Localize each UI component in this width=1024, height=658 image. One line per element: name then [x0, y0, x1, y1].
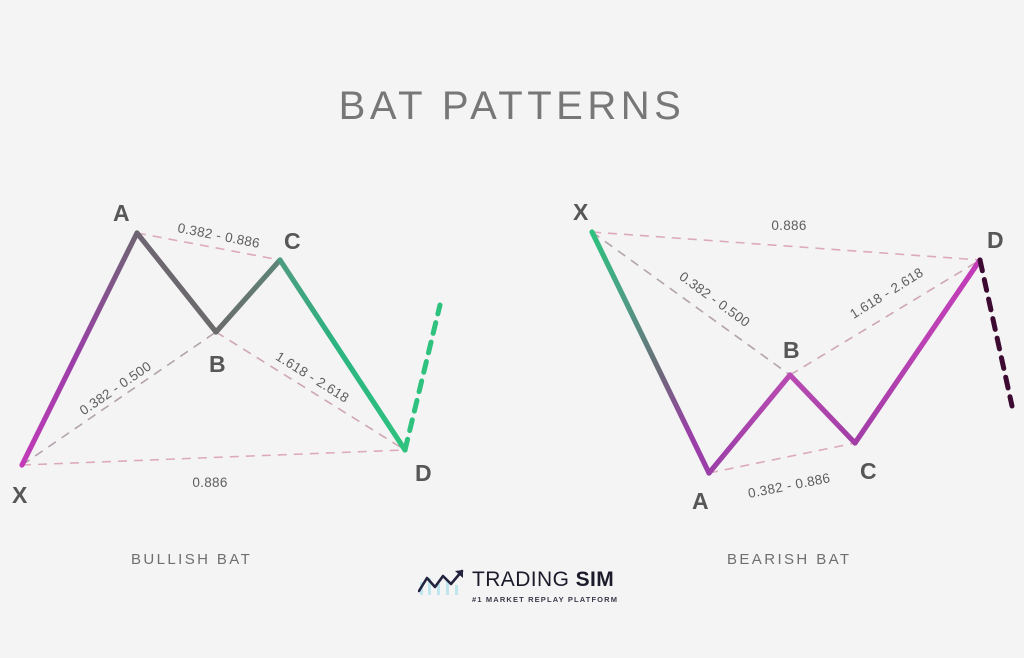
segment-c-d — [855, 260, 980, 443]
guide-line-xb — [592, 232, 790, 375]
guide-line-xb — [22, 332, 216, 465]
guide-line-bd — [216, 332, 405, 450]
ratio-label-bd: 1.618 - 2.618 — [273, 349, 352, 406]
brand-logo: TRADING SIM #1 MARKET REPLAY PLATFORM — [418, 567, 618, 612]
ratio-label-xd: 0.886 — [192, 475, 227, 490]
bearish-ratio-labels: 0.886 0.382 - 0.500 1.618 - 2.618 0.382 … — [676, 218, 926, 501]
point-label-x: X — [573, 199, 589, 225]
point-label-c: C — [284, 228, 301, 254]
point-label-c: C — [860, 458, 877, 484]
projection-line-bearish — [980, 260, 1012, 406]
logo-word-sim: SIM — [576, 568, 615, 591]
point-label-x: X — [12, 482, 28, 508]
point-label-a: A — [692, 488, 709, 514]
segment-b-c — [216, 260, 280, 332]
guide-line-bd — [790, 260, 980, 375]
point-label-b: B — [783, 337, 800, 363]
logo-word-trading: TRADING — [472, 568, 569, 591]
zigzag-arrow-chart-icon — [418, 569, 466, 595]
chart-caption-bearish: BEARISH BAT — [727, 551, 851, 568]
ratio-label-ac: 0.382 - 0.886 — [747, 470, 832, 501]
point-label-d: D — [987, 227, 1004, 253]
bearish-price-path — [592, 232, 1012, 473]
segment-x-a — [22, 233, 137, 465]
point-label-b: B — [209, 351, 226, 377]
ratio-label-ac: 0.382 - 0.886 — [176, 220, 261, 251]
infographic-canvas: BAT PATTERNS — [0, 0, 1024, 658]
ratio-label-xd: 0.886 — [771, 218, 806, 233]
segment-b-c — [790, 375, 855, 443]
ratio-label-bd: 1.618 - 2.618 — [847, 265, 926, 322]
guide-line-xd — [592, 232, 980, 260]
chart-caption-bullish: BULLISH BAT — [131, 551, 252, 568]
ratio-label-xb: 0.382 - 0.500 — [77, 358, 154, 418]
bullish-price-path — [22, 233, 440, 465]
segment-a-b — [137, 233, 216, 332]
guide-line-xd — [22, 450, 405, 465]
segment-c-d — [280, 260, 405, 450]
logo-wordmark: TRADING SIM — [472, 568, 614, 592]
logo-tagline: #1 MARKET REPLAY PLATFORM — [472, 595, 618, 604]
point-label-a: A — [113, 200, 130, 226]
point-label-d: D — [415, 460, 432, 486]
projection-line-bullish — [405, 305, 440, 450]
segment-x-a — [592, 232, 709, 473]
